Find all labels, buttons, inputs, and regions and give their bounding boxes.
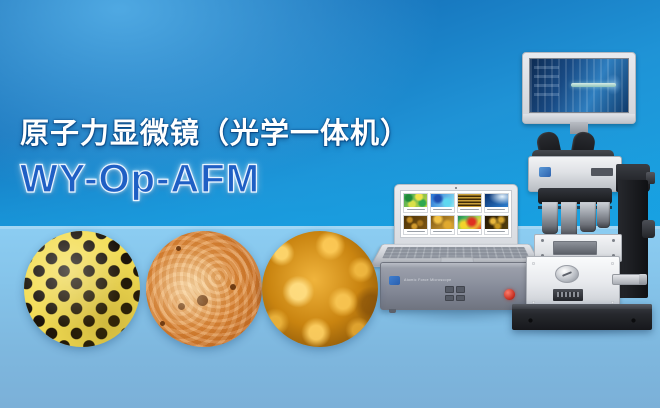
thumb-image: [431, 194, 454, 207]
objective-lens-3: [580, 202, 596, 232]
rod-tip: [639, 274, 647, 285]
thumb-image: [404, 216, 427, 229]
head-screw-2: [611, 262, 614, 265]
microscope-body: [528, 156, 622, 192]
stage-screw-1: [541, 239, 544, 242]
controller-label: Atomic Force Microscope: [404, 278, 451, 282]
port-2[interactable]: [456, 286, 465, 293]
sample-slot: [553, 241, 597, 255]
stage-screw-3: [612, 239, 615, 242]
grain-texture: [262, 231, 378, 347]
product-model: WY-Op-AFM: [20, 159, 410, 199]
thumb-caption: [458, 229, 481, 234]
thumb-7: [457, 215, 482, 235]
thumb-5: [403, 215, 428, 235]
objective-lens-2: [561, 202, 577, 238]
base-mount-hole-1: [528, 318, 533, 323]
port-3[interactable]: [445, 295, 454, 302]
translation-stage-rod[interactable]: [612, 274, 642, 285]
sample-image-row: [0, 228, 390, 358]
afm-scanner-head: [526, 256, 620, 310]
port-4[interactable]: [456, 295, 465, 302]
thumb-3: [457, 193, 482, 213]
laptop-screen: [400, 190, 512, 238]
sample-shading: [146, 231, 262, 347]
thumb-image: [458, 194, 481, 207]
thumb-caption: [458, 207, 481, 212]
filter-slot[interactable]: [591, 168, 613, 176]
scanner-nameplate: [553, 289, 583, 301]
head-screw-1: [532, 262, 535, 265]
objective-lens-4: [597, 202, 610, 228]
thumb-2: [430, 193, 455, 213]
thumb-image: [458, 216, 481, 229]
port-1[interactable]: [445, 286, 454, 293]
lcd-monitor: [522, 52, 636, 124]
thumb-caption: [404, 207, 427, 212]
sample-spiral-growth-scan: [146, 231, 262, 347]
thumb-6: [430, 215, 455, 235]
objective-lens-group: [542, 202, 610, 234]
cantilever-bar: [571, 83, 616, 86]
headline-block: 原子力显微镜（光学一体机） WY-Op-AFM: [20, 118, 410, 199]
port-panel[interactable]: [445, 286, 465, 301]
sample-porous-membrane-scan: [24, 231, 140, 347]
thumb-image: [431, 216, 454, 229]
granite-base: [512, 304, 652, 330]
thumb-caption: [431, 207, 454, 212]
thumb-caption: [404, 229, 427, 234]
objective-lens-1: [542, 202, 558, 234]
monitor-screen: [529, 58, 629, 113]
focus-knob[interactable]: [642, 220, 655, 238]
sample-shading: [24, 231, 140, 347]
sample-granular-surface-scan: [262, 231, 378, 347]
optical-afm-microscope: [498, 52, 660, 327]
thumb-caption: [431, 229, 454, 234]
page-title: 原子力显微镜（光学一体机）: [20, 118, 410, 150]
base-top-surface: [512, 304, 652, 309]
webcam-icon: [455, 187, 457, 189]
brand-logo-icon: [539, 167, 551, 177]
controller-foot-left: [389, 309, 396, 313]
base-mount-hole-2: [631, 318, 636, 323]
scanner-dial[interactable]: [555, 265, 579, 283]
brand-logo-icon: [389, 276, 400, 285]
product-banner: 原子力显微镜（光学一体机） WY-Op-AFM: [0, 0, 660, 408]
